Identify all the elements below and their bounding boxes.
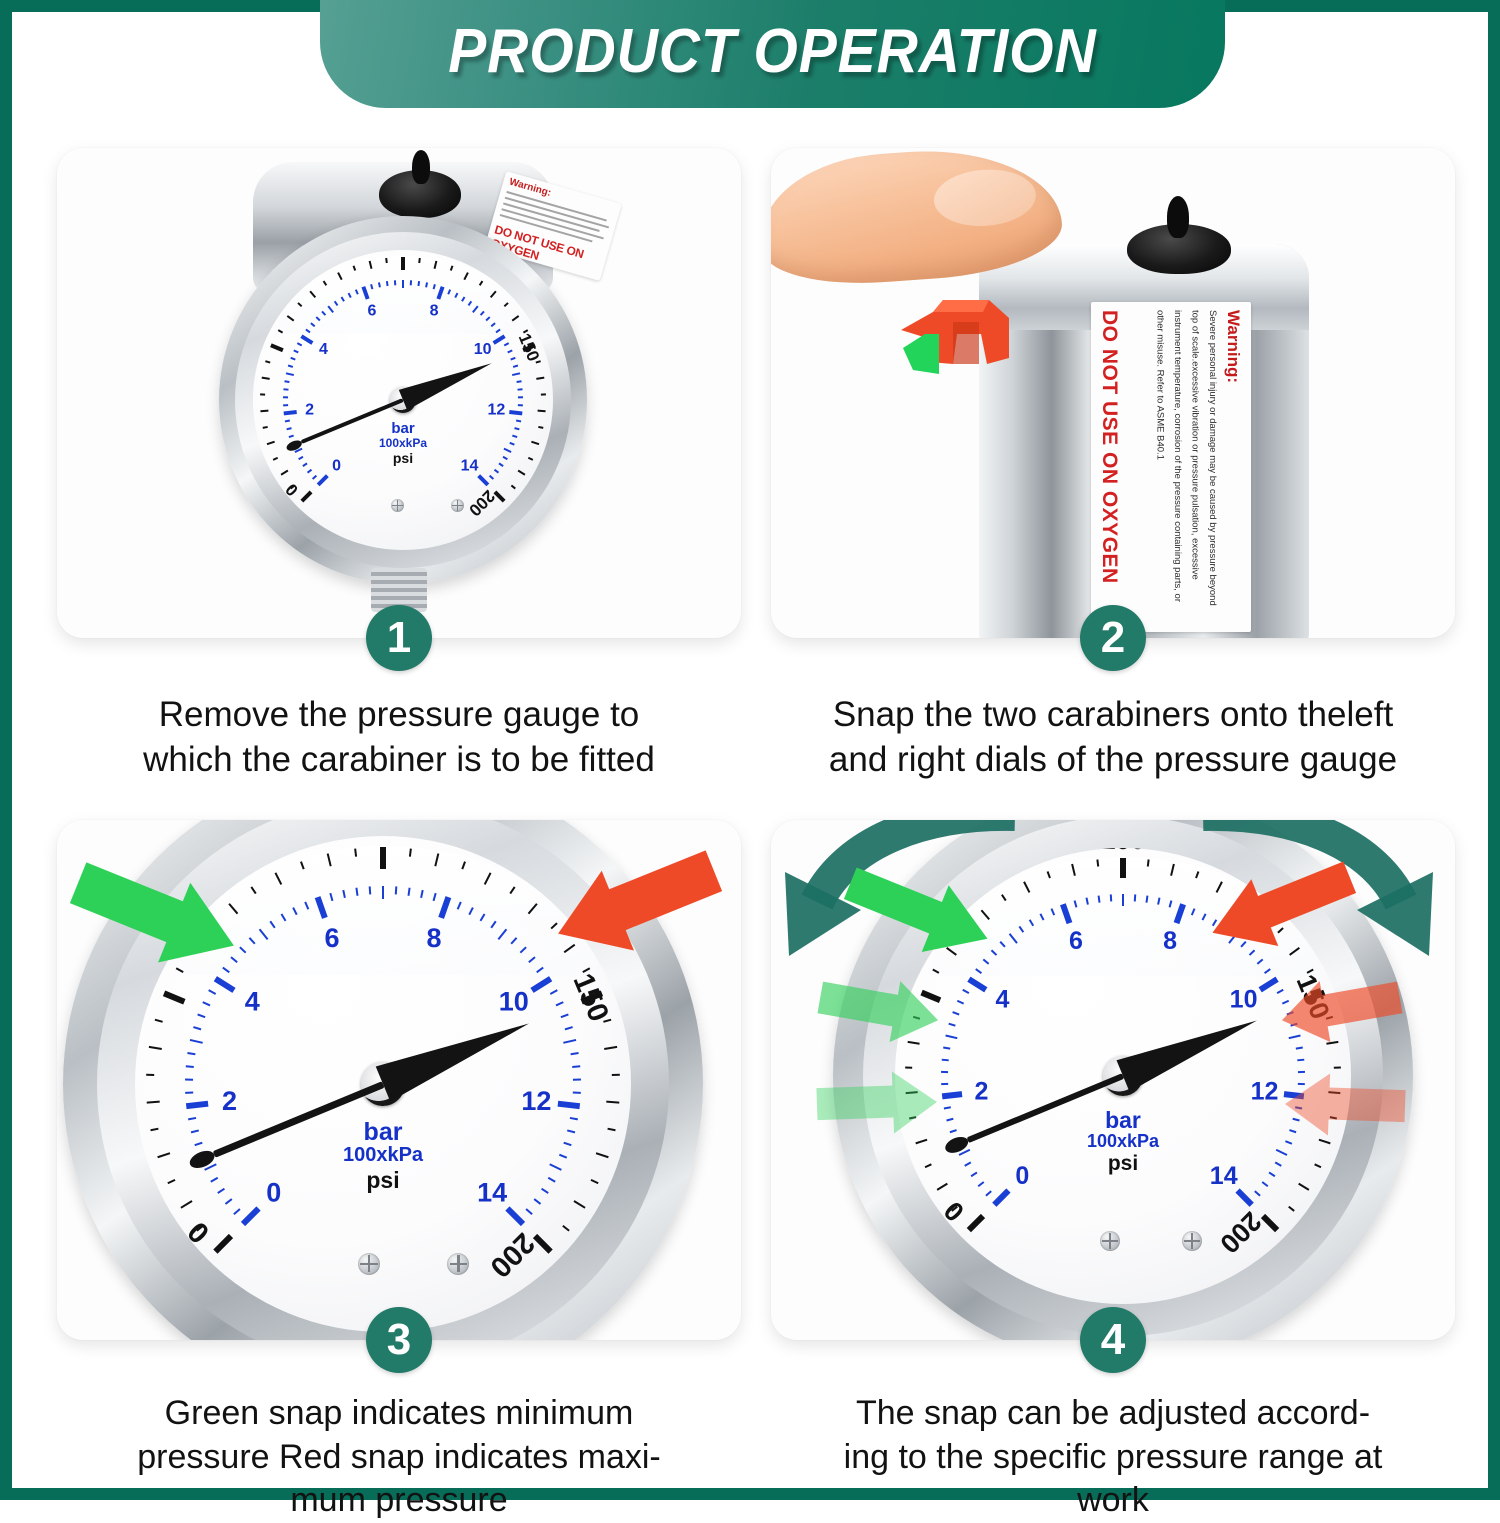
dial-screw-right (447, 1253, 469, 1275)
step-number-badge-4: 4 (1080, 1307, 1146, 1373)
dial-label-bar: 6 (368, 302, 377, 320)
caption-line: Snap the two carabiners onto theleft (779, 693, 1447, 738)
header-banner: PRODUCT OPERATION (320, 0, 1225, 108)
step-panel-1: Warning: DO NOT USE ON OXYGEN bar (57, 148, 741, 808)
caption-line: The snap can be adjusted accord- (779, 1392, 1447, 1436)
step-caption-2: Snap the two carabiners onto theleft and… (779, 693, 1447, 783)
step-2-image-card: Warning: Severe personal injury or damag… (771, 148, 1455, 638)
dial-label-psi: 200 (1213, 1205, 1267, 1259)
dial-label-bar: 4 (995, 986, 1009, 1015)
dial-screw-right (451, 499, 464, 512)
green-snap-arrow (837, 866, 997, 976)
dial-label-bar: 2 (222, 1086, 237, 1117)
red-snap-arrow (549, 850, 729, 980)
vent-tip-icon (412, 150, 430, 184)
dial-label-bar: 14 (461, 457, 479, 475)
dial-screw-left (1100, 1231, 1120, 1251)
step-panel-4: bar 100xkPa psi 02468101214050100150200 (771, 820, 1455, 1480)
dial-label-bar: 8 (1163, 927, 1177, 956)
dial-screw-left (391, 499, 404, 512)
gauge-dial: bar 100xkPa psi 02468101214050100150200 (253, 250, 553, 550)
dial-label-bar: 12 (488, 402, 506, 420)
caption-line: which the carabiner is to be fitted (65, 738, 733, 783)
step-caption-4: The snap can be adjusted accord- ing to … (779, 1392, 1447, 1523)
green-snap-clip[interactable] (899, 326, 955, 387)
dial-label-bar: 0 (266, 1178, 281, 1209)
step-number-badge-1: 1 (366, 605, 432, 671)
vent-tip-icon (1167, 196, 1189, 238)
caption-line: Remove the pressure gauge to (65, 693, 733, 738)
caption-line: pressure Red snap indicates maxi- (65, 1436, 733, 1480)
steps-grid: Warning: DO NOT USE ON OXYGEN bar (57, 148, 1455, 1478)
dial-label-bar: 8 (426, 923, 441, 954)
dial-label-bar: 14 (1210, 1162, 1238, 1191)
dial-unit-bar: bar (253, 421, 553, 437)
dial-label-psi: 100 (389, 250, 417, 255)
dial-label-psi: 0 (282, 479, 303, 500)
dial-label-bar: 4 (245, 986, 260, 1017)
dial-label-bar: 0 (1015, 1162, 1029, 1191)
step-panel-2: Warning: Severe personal injury or damag… (771, 148, 1455, 808)
dial-label-bar: 6 (1069, 927, 1083, 956)
page-title: PRODUCT OPERATION (448, 16, 1096, 93)
dial-label-bar: 14 (477, 1178, 507, 1209)
warning-notice: DO NOT USE ON OXYGEN (1097, 310, 1121, 584)
step-number-badge-2: 2 (1080, 605, 1146, 671)
dial-label-psi: 100 (359, 836, 407, 844)
dial-screw-right (1182, 1231, 1202, 1251)
dial-screw-left (358, 1253, 380, 1275)
dial-label-psi: 0 (938, 1195, 971, 1228)
dial-label-bar: 2 (975, 1077, 989, 1106)
warning-sticker: Warning: Severe personal injury or damag… (1091, 302, 1251, 632)
infographic-root: PRODUCT OPERATION Warning: DO N (0, 0, 1500, 1500)
green-snap-arrow (63, 862, 243, 992)
step-caption-3: Green snap indicates minimum pressure Re… (65, 1392, 733, 1523)
step-3-image-card: bar 100xkPa psi 02468101214050100150200 (57, 820, 741, 1340)
dial-label-bar: 6 (324, 923, 339, 954)
dial-label-psi: 0 (182, 1214, 217, 1249)
dial-label-bar: 12 (1251, 1077, 1279, 1106)
dial-label-psi: 100 (1100, 848, 1145, 856)
dial-label-psi: 200 (483, 1226, 541, 1284)
dial-unit-bar: bar (135, 1119, 631, 1146)
fingernail (932, 166, 1038, 229)
warning-heading: Warning: (1223, 310, 1243, 383)
dial-label-bar: 12 (521, 1086, 551, 1117)
step-caption-1: Remove the pressure gauge to which the c… (65, 693, 733, 783)
step-panel-3: bar 100xkPa psi 02468101214050100150200 (57, 820, 741, 1480)
red-snap-arrow (1203, 860, 1363, 970)
red-snap-arrow-trail-1 (1275, 970, 1405, 1050)
step-4-image-card: bar 100xkPa psi 02468101214050100150200 (771, 820, 1455, 1340)
dial-label-bar: 4 (319, 341, 328, 359)
dial-label-bar: 0 (332, 457, 341, 475)
caption-line: and right dials of the pressure gauge (779, 738, 1447, 783)
red-snap-arrow-trail-2 (1279, 1066, 1409, 1146)
green-snap-arrow-trail-2 (813, 1064, 943, 1144)
dial-label-psi: 200 (464, 486, 498, 520)
step-number-badge-3: 3 (366, 1307, 432, 1373)
dial-label-bar: 2 (305, 402, 314, 420)
caption-line: ing to the specific pressure range at (779, 1436, 1447, 1480)
dial-label-psi: 150 (514, 331, 543, 365)
step-1-image-card: Warning: DO NOT USE ON OXYGEN bar (57, 148, 741, 638)
caption-line: mum pressure (65, 1479, 733, 1523)
green-snap-arrow-trail-1 (815, 970, 945, 1050)
caption-line: work (779, 1479, 1447, 1523)
dial-label-bar: 8 (430, 302, 439, 320)
warning-body: Severe personal injury or damage may be … (1125, 310, 1221, 610)
caption-line: Green snap indicates minimum (65, 1392, 733, 1436)
